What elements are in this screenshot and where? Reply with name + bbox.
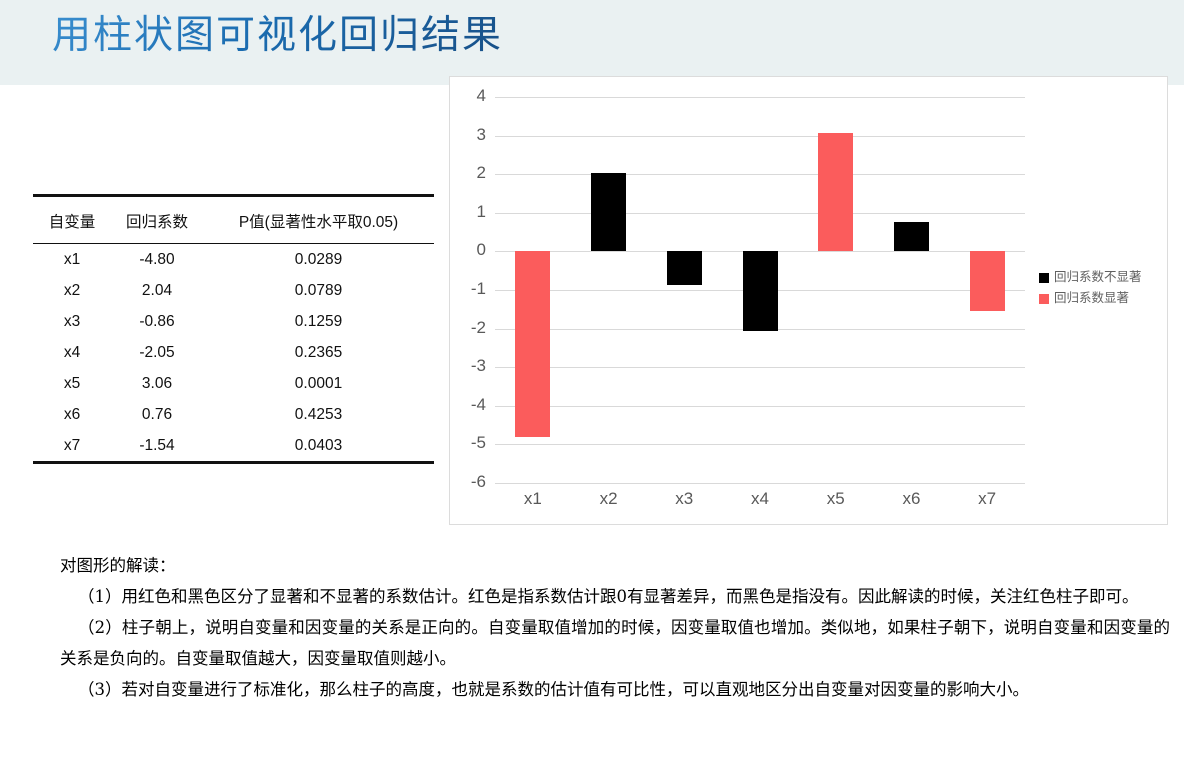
y-axis-tick-label: -2 [444,318,486,338]
x-axis-tick-label: x7 [950,489,1024,509]
chart-legend: 回归系数不显著 回归系数显著 [1039,267,1142,309]
chart-bar[interactable] [667,251,702,284]
chart-bar[interactable] [743,251,778,330]
table-row: x2 2.04 0.0789 [33,275,434,306]
column-header-pvalue: P值(显著性水平取0.05) [203,196,434,244]
table-header-row: 自变量 回归系数 P值(显著性水平取0.05) [33,196,434,244]
cell-variable: x3 [33,306,111,337]
legend-item-significant: 回归系数显著 [1039,288,1142,309]
table-body: x1 -4.80 0.0289 x2 2.04 0.0789 x3 -0.86 … [33,244,434,463]
x-axis-tick-label: x1 [496,489,570,509]
gridline [495,406,1025,407]
cell-pvalue: 0.0789 [203,275,434,306]
column-header-coefficient: 回归系数 [111,196,203,244]
cell-coefficient: 0.76 [111,399,203,430]
legend-swatch-red-icon [1039,294,1049,304]
table-row: x6 0.76 0.4253 [33,399,434,430]
y-axis-tick-label: 1 [444,202,486,222]
gridline [495,97,1025,98]
column-header-variable: 自变量 [33,196,111,244]
regression-results-table: 自变量 回归系数 P值(显著性水平取0.05) x1 -4.80 0.0289 … [33,194,434,464]
gridline [495,483,1025,484]
gridline [495,136,1025,137]
table-row: x5 3.06 0.0001 [33,368,434,399]
page-title: 用柱状图可视化回归结果 [52,6,503,66]
cell-pvalue: 0.4253 [203,399,434,430]
legend-label: 回归系数不显著 [1054,267,1142,288]
cell-pvalue: 0.1259 [203,306,434,337]
y-axis-tick-label: 2 [444,163,486,183]
table-row: x3 -0.86 0.1259 [33,306,434,337]
x-axis-tick-label: x4 [723,489,797,509]
cell-coefficient: 3.06 [111,368,203,399]
cell-pvalue: 0.0403 [203,430,434,463]
gridline [495,174,1025,175]
table-row: x7 -1.54 0.0403 [33,430,434,463]
cell-variable: x5 [33,368,111,399]
interpretation-item-1: （1）用红色和黑色区分了显著和不显著的系数估计。红色是指系数估计跟0有显著差异，… [60,581,1170,612]
chart-bar[interactable] [970,251,1005,310]
y-axis-tick-label: -4 [444,395,486,415]
interpretation-block: 对图形的解读： （1）用红色和黑色区分了显著和不显著的系数估计。红色是指系数估计… [60,550,1170,705]
chart-bar[interactable] [515,251,550,436]
y-axis-tick-label: -6 [444,472,486,492]
x-axis-tick-label: x6 [874,489,948,509]
cell-variable: x7 [33,430,111,463]
cell-coefficient: -0.86 [111,306,203,337]
cell-pvalue: 0.2365 [203,337,434,368]
x-axis-tick-label: x2 [572,489,646,509]
y-axis-tick-label: 4 [444,86,486,106]
cell-variable: x6 [33,399,111,430]
cell-coefficient: 2.04 [111,275,203,306]
gridline [495,213,1025,214]
y-axis-tick-label: -3 [444,356,486,376]
gridline [495,444,1025,445]
legend-swatch-black-icon [1039,273,1049,283]
cell-variable: x1 [33,244,111,276]
y-axis-tick-label: 0 [444,240,486,260]
chart-bar[interactable] [894,222,929,251]
y-axis-tick-label: 3 [444,125,486,145]
interpretation-heading: 对图形的解读： [60,550,1170,581]
x-axis-tick-label: x3 [647,489,721,509]
cell-coefficient: -1.54 [111,430,203,463]
cell-coefficient: -2.05 [111,337,203,368]
cell-variable: x4 [33,337,111,368]
legend-label: 回归系数显著 [1054,288,1129,309]
table-row: x1 -4.80 0.0289 [33,244,434,276]
cell-pvalue: 0.0001 [203,368,434,399]
interpretation-item-2: （2）柱子朝上，说明自变量和因变量的关系是正向的。自变量取值增加的时候，因变量取… [60,612,1170,674]
legend-item-not-significant: 回归系数不显著 [1039,267,1142,288]
y-axis-tick-label: -5 [444,433,486,453]
chart-bar[interactable] [591,173,626,252]
regression-bar-chart: 43210-1-2-3-4-5-6x1x2x3x4x5x6x7 回归系数不显著 … [449,76,1168,525]
y-axis-tick-label: -1 [444,279,486,299]
chart-plot-area: 43210-1-2-3-4-5-6x1x2x3x4x5x6x7 [495,97,1025,483]
x-axis-tick-label: x5 [799,489,873,509]
cell-pvalue: 0.0289 [203,244,434,276]
interpretation-item-3: （3）若对自变量进行了标准化，那么柱子的高度，也就是系数的估计值有可比性，可以直… [60,674,1170,705]
cell-variable: x2 [33,275,111,306]
cell-coefficient: -4.80 [111,244,203,276]
table-row: x4 -2.05 0.2365 [33,337,434,368]
gridline [495,367,1025,368]
chart-bar[interactable] [818,133,853,251]
